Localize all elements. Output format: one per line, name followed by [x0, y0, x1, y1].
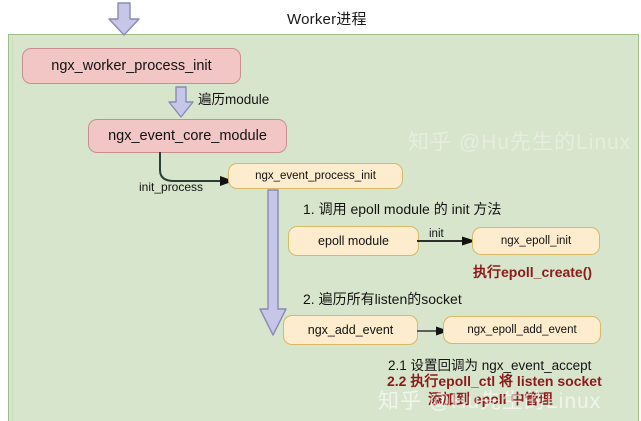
node-epoll-module[interactable]: epoll module [288, 226, 419, 256]
node-ngx-epoll-init[interactable]: ngx_epoll_init [472, 227, 600, 255]
note-exec-epoll-create: 执行epoll_create() [473, 262, 592, 282]
node-ngx-event-core-module[interactable]: ngx_event_core_module [88, 119, 287, 153]
step-1-text: 1. 调用 epoll module 的 init 方法 [303, 199, 501, 219]
node-label: ngx_event_process_init [255, 170, 376, 182]
node-label: ngx_epoll_init [501, 235, 571, 247]
node-label: ngx_epoll_add_event [467, 324, 576, 336]
long-down-arrow-icon [258, 189, 288, 337]
edge-label-init: init [429, 228, 444, 240]
diagram-canvas: Worker进程 ngx_worker_process_init 遍历modul… [0, 0, 641, 421]
down-arrow-icon [167, 86, 195, 118]
page-title: Worker进程 [287, 8, 367, 29]
step-2-2-text-line1: 2.2 执行epoll_ctl 将 listen socket [387, 371, 602, 391]
node-label: ngx_event_core_module [108, 128, 267, 144]
panel-inner-divider [12, 36, 13, 421]
node-ngx-epoll-add-event[interactable]: ngx_epoll_add_event [443, 316, 601, 344]
step-2-2-text-line2: 添加到 epoll 中管理 [428, 389, 552, 409]
node-ngx-event-process-init[interactable]: ngx_event_process_init [228, 163, 403, 189]
node-label: epoll module [318, 234, 389, 248]
node-ngx-worker-process-init[interactable]: ngx_worker_process_init [22, 48, 241, 84]
node-label: ngx_add_event [308, 323, 394, 337]
edge-label-init-process: init_process [139, 180, 203, 194]
step-2-text: 2. 遍历所有listen的socket [303, 289, 462, 309]
edge-label-traverse-module: 遍历module [198, 88, 269, 108]
down-arrow-icon [107, 2, 141, 36]
init-edge-arrow [416, 232, 478, 250]
node-ngx-add-event[interactable]: ngx_add_event [283, 315, 418, 345]
node-label: ngx_worker_process_init [51, 58, 211, 74]
